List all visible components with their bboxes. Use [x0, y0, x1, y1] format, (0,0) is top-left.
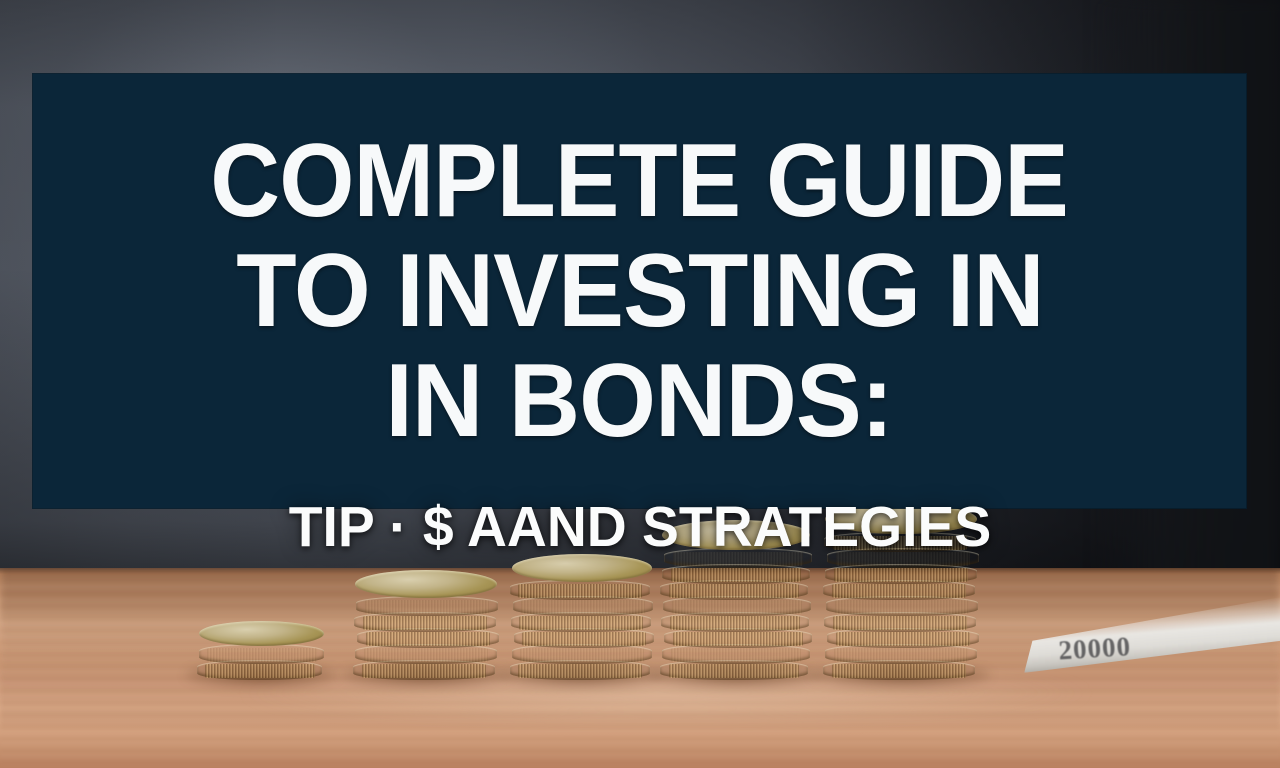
headline-line-1: COMPLETE GUIDE — [211, 129, 1069, 233]
wooden-table-surface — [0, 568, 1280, 768]
headline-line-3: IN BONDS: — [386, 349, 893, 453]
table-gloss-highlight — [0, 658, 1280, 728]
banknote-denomination: 20000 — [1058, 631, 1132, 666]
headline-block: COMPLETE GUIDE TO INVESTING IN IN BONDS: — [33, 74, 1246, 508]
poster-image: 20000 COMPLETE GUIDE TO INVESTING IN IN … — [0, 0, 1280, 768]
headline-line-2: TO INVESTING IN — [236, 239, 1043, 343]
subtitle: TIP · $ AAND STRATEGIES — [19, 499, 1261, 556]
